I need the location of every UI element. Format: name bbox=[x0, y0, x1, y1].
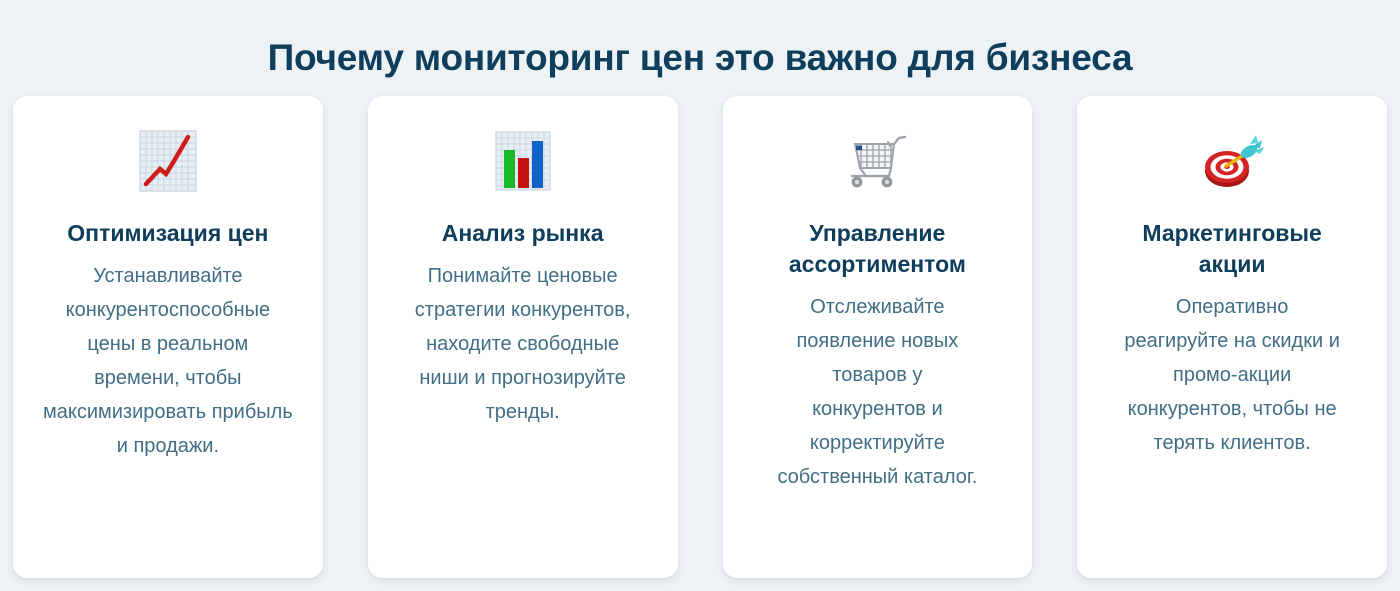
benefit-card-title: Управление ассортиментом bbox=[752, 218, 1002, 280]
benefit-card-text: Оперативно реагируйте на скидки и промо-… bbox=[1122, 290, 1342, 460]
benefit-card-text: Устанавливайте конкурентоспособные цены … bbox=[43, 259, 293, 463]
benefit-card-assortment-management[interactable]: Управление ассортиментом Отслеживайте по… bbox=[723, 96, 1033, 578]
benefit-card-market-analysis[interactable]: Анализ рынка Понимайте ценовые стратегии… bbox=[368, 96, 678, 578]
benefits-section: Почему мониторинг цен это важно для бизн… bbox=[0, 0, 1400, 591]
dart-target-icon bbox=[1199, 126, 1265, 196]
shopping-cart-icon bbox=[844, 126, 910, 196]
benefit-card-title: Маркетинговые акции bbox=[1112, 218, 1352, 280]
bar-chart-icon bbox=[490, 126, 556, 196]
benefit-card-text: Отслеживайте появление новых товаров у к… bbox=[775, 290, 980, 494]
page-title: Почему мониторинг цен это важно для бизн… bbox=[0, 33, 1400, 83]
benefit-cards-row: Оптимизация цен Устанавливайте конкурент… bbox=[13, 96, 1387, 578]
benefit-card-marketing-campaigns[interactable]: Маркетинговые акции Оперативно реагируйт… bbox=[1077, 96, 1387, 578]
benefit-card-text: Понимайте ценовые стратегии конкурентов,… bbox=[403, 259, 643, 429]
benefit-card-title: Оптимизация цен bbox=[67, 218, 268, 249]
chart-increasing-icon bbox=[135, 126, 201, 196]
benefit-card-price-optimization[interactable]: Оптимизация цен Устанавливайте конкурент… bbox=[13, 96, 323, 578]
benefit-card-title: Анализ рынка bbox=[442, 218, 604, 249]
